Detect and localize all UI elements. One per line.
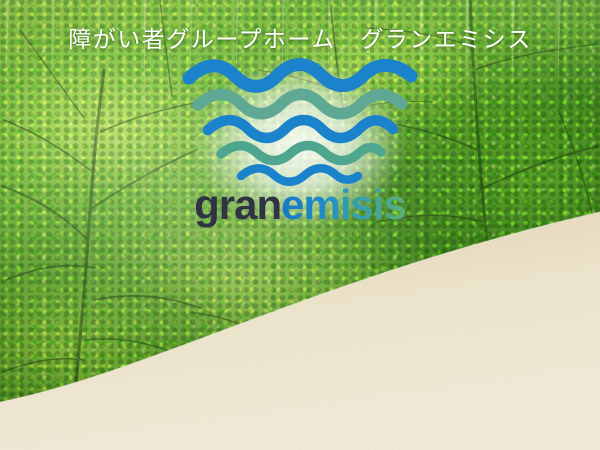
wave-fan-logo bbox=[185, 60, 415, 188]
site-title: 障がい者グループホーム グランエミシス bbox=[0, 20, 600, 54]
logo-wordmark-gran: gran bbox=[194, 181, 281, 228]
logo-wordmark-emisis: emisis bbox=[281, 181, 406, 228]
wave-blue-3 bbox=[241, 168, 358, 182]
logo-block[interactable]: granemisis bbox=[170, 60, 430, 226]
wave-teal-2 bbox=[221, 146, 381, 161]
page-root: 障がい者グループホーム グランエミシス gr bbox=[0, 0, 600, 450]
wave-teal-1 bbox=[198, 94, 402, 114]
wave-blue-2 bbox=[208, 120, 393, 138]
wave-blue-1 bbox=[189, 65, 411, 87]
logo-wordmark: granemisis bbox=[170, 184, 430, 226]
